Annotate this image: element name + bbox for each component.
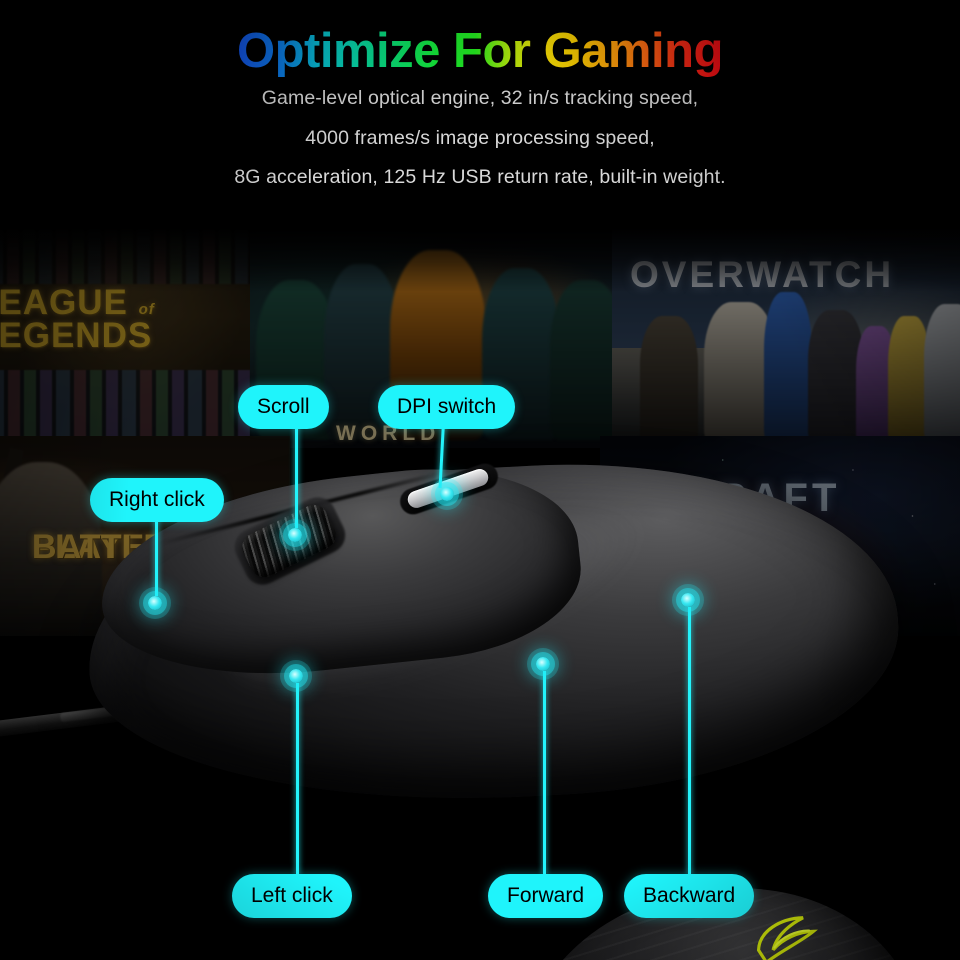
callout-label-scroll[interactable]: Scroll — [238, 385, 329, 429]
callout-leader-line-dpi-switch — [439, 422, 445, 488]
hotspot-dot-right-click[interactable] — [148, 596, 162, 610]
callout-leader-line-forward — [543, 671, 546, 875]
callout-label-backward[interactable]: Backward — [624, 874, 754, 918]
hotspot-dot-backward[interactable] — [681, 593, 695, 607]
callout-label-right-click[interactable]: Right click — [90, 478, 224, 522]
callout-label-left-click[interactable]: Left click — [232, 874, 352, 918]
callout-label-forward[interactable]: Forward — [488, 874, 603, 918]
hotspot-dot-scroll[interactable] — [288, 528, 302, 542]
hotspot-dot-left-click[interactable] — [289, 669, 303, 683]
hotspot-dot-forward[interactable] — [536, 657, 550, 671]
callout-layer: ScrollDPI switchRight clickLeft clickFor… — [0, 0, 960, 960]
product-infographic: LEAGUE ofLEGENDS WORLD OVERWATCH PLAYERU… — [0, 0, 960, 960]
callout-leader-line-scroll — [295, 422, 298, 528]
callout-leader-line-right-click — [155, 516, 158, 596]
callout-leader-line-backward — [688, 607, 691, 875]
callout-leader-line-left-click — [296, 683, 299, 875]
callout-label-dpi-switch[interactable]: DPI switch — [378, 385, 515, 429]
hotspot-dot-dpi-switch[interactable] — [440, 487, 454, 501]
